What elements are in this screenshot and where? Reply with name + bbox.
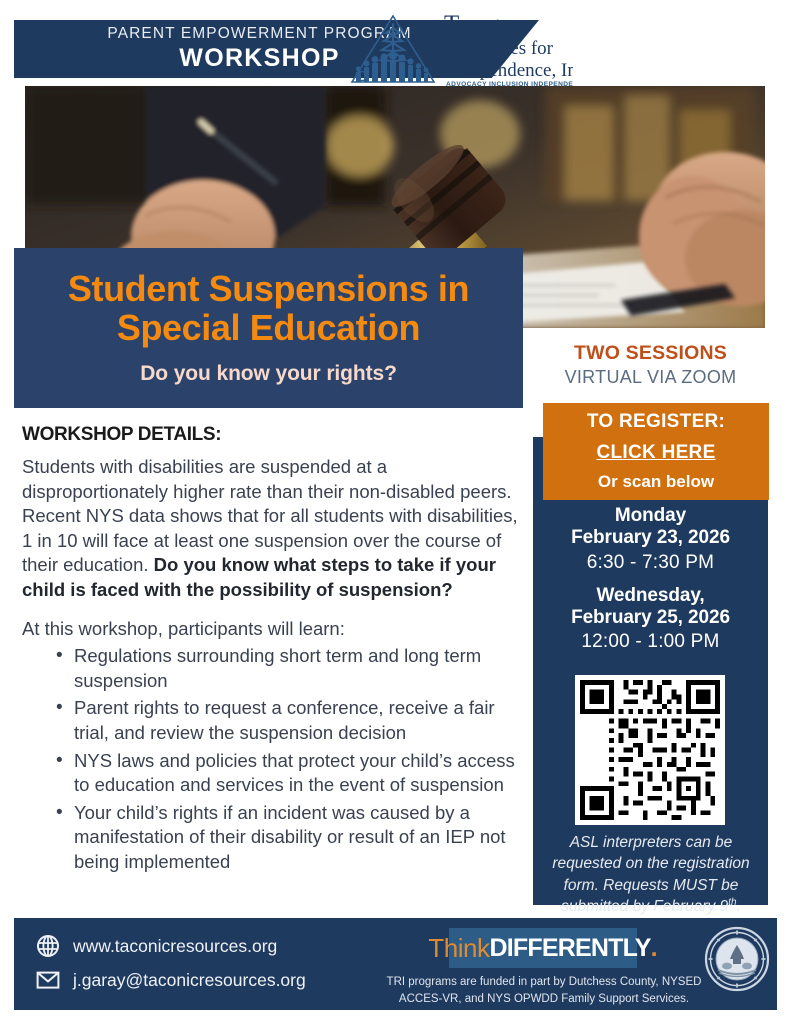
list-item: Your child’s rights if an incident was c…	[56, 801, 522, 875]
email-label: j.garay@taconicresources.org	[73, 970, 306, 991]
page-subtitle: Do you know your rights?	[140, 362, 397, 386]
globe-icon	[36, 934, 60, 958]
two-sessions-label: TWO SESSIONS	[533, 341, 768, 365]
session-date: February 23, 2026	[533, 527, 768, 549]
think-differently-logo: ThinkDIFFERENTLY.	[449, 928, 637, 968]
session-item: Monday February 23, 2026 6:30 - 7:30 PM	[533, 505, 768, 576]
session-day: Monday	[533, 505, 768, 527]
qr-code[interactable]	[575, 675, 725, 825]
email-row[interactable]: j.garay@taconicresources.org	[36, 968, 306, 992]
triangle-people-pine-tree-logo	[352, 16, 434, 82]
list-item: Parent rights to request a conference, r…	[56, 696, 522, 745]
flyer-page: PARENT EMPOWERMENT PROGRAM WORKSHOP	[0, 0, 791, 1024]
session-time: 6:30 - 7:30 PM	[533, 551, 768, 576]
session-date: February 25, 2026	[533, 607, 768, 629]
header-title: WORKSHOP	[179, 44, 373, 73]
asl-note-period: .	[737, 898, 741, 915]
session-day: Wednesday,	[533, 585, 768, 607]
asl-note-text: ASL interpreters can be requested on the…	[552, 834, 749, 915]
list-item: NYS laws and policies that protect your …	[56, 749, 522, 798]
footer-bar: www.taconicresources.org j.garay@taconic…	[14, 918, 777, 1010]
svg-text:Independence, Inc.: Independence, Inc.	[444, 55, 573, 82]
svg-text:Resources for: Resources for	[444, 33, 554, 60]
sessions-heading: TWO SESSIONS VIRTUAL VIA ZOOM	[533, 341, 768, 390]
title-panel-content: Student Suspensions in Special Education…	[14, 248, 523, 408]
session-time: 12:00 - 1:00 PM	[533, 630, 768, 655]
session-list: Monday February 23, 2026 6:30 - 7:30 PM …	[533, 505, 768, 664]
to-register-label: TO REGISTER:	[587, 408, 725, 437]
session-item: Wednesday, February 25, 2026 12:00 - 1:0…	[533, 585, 768, 656]
page-title: Student Suspensions in Special Education	[14, 270, 523, 348]
click-here-link[interactable]: CLICK HERE	[596, 439, 715, 468]
register-callout[interactable]: TO REGISTER: CLICK HERE Or scan below	[543, 403, 769, 500]
workshop-details-heading: WORKSHOP DETAILS:	[22, 424, 522, 446]
contact-block: www.taconicresources.org j.garay@taconic…	[36, 934, 306, 992]
workshop-details: WORKSHOP DETAILS: Students with disabili…	[22, 424, 522, 878]
learn-lead-in: At this workshop, participants will lear…	[22, 617, 522, 642]
dutchess-county-seal	[704, 926, 770, 992]
or-scan-below-label: Or scan below	[598, 469, 714, 495]
differently-word: DIFFERENTLY	[490, 934, 651, 963]
envelope-icon	[36, 968, 60, 992]
website-row[interactable]: www.taconicresources.org	[36, 934, 306, 958]
workshop-details-paragraph: Students with disabilities are suspended…	[22, 455, 522, 603]
list-item: Regulations surrounding short term and l…	[56, 644, 522, 693]
funding-line-2: ACCES-VR, and NYS OPWDD Family Support S…	[384, 991, 704, 1008]
virtual-via-zoom-label: VIRTUAL VIA ZOOM	[533, 365, 768, 389]
funding-line-1: TRI programs are funded in part by Dutch…	[384, 974, 704, 991]
funding-statement: TRI programs are funded in part by Dutch…	[384, 974, 704, 1007]
asl-note-ordinal: th	[728, 897, 736, 908]
think-differently-period: .	[651, 934, 658, 963]
website-label: www.taconicresources.org	[73, 936, 277, 957]
think-word: Think	[428, 933, 489, 964]
asl-note: ASL interpreters can be requested on the…	[540, 832, 762, 918]
learning-objectives-list: Regulations surrounding short term and l…	[22, 644, 522, 874]
taconic-resources-logo: Taconic Resources for Independence, Inc.…	[348, 10, 573, 88]
